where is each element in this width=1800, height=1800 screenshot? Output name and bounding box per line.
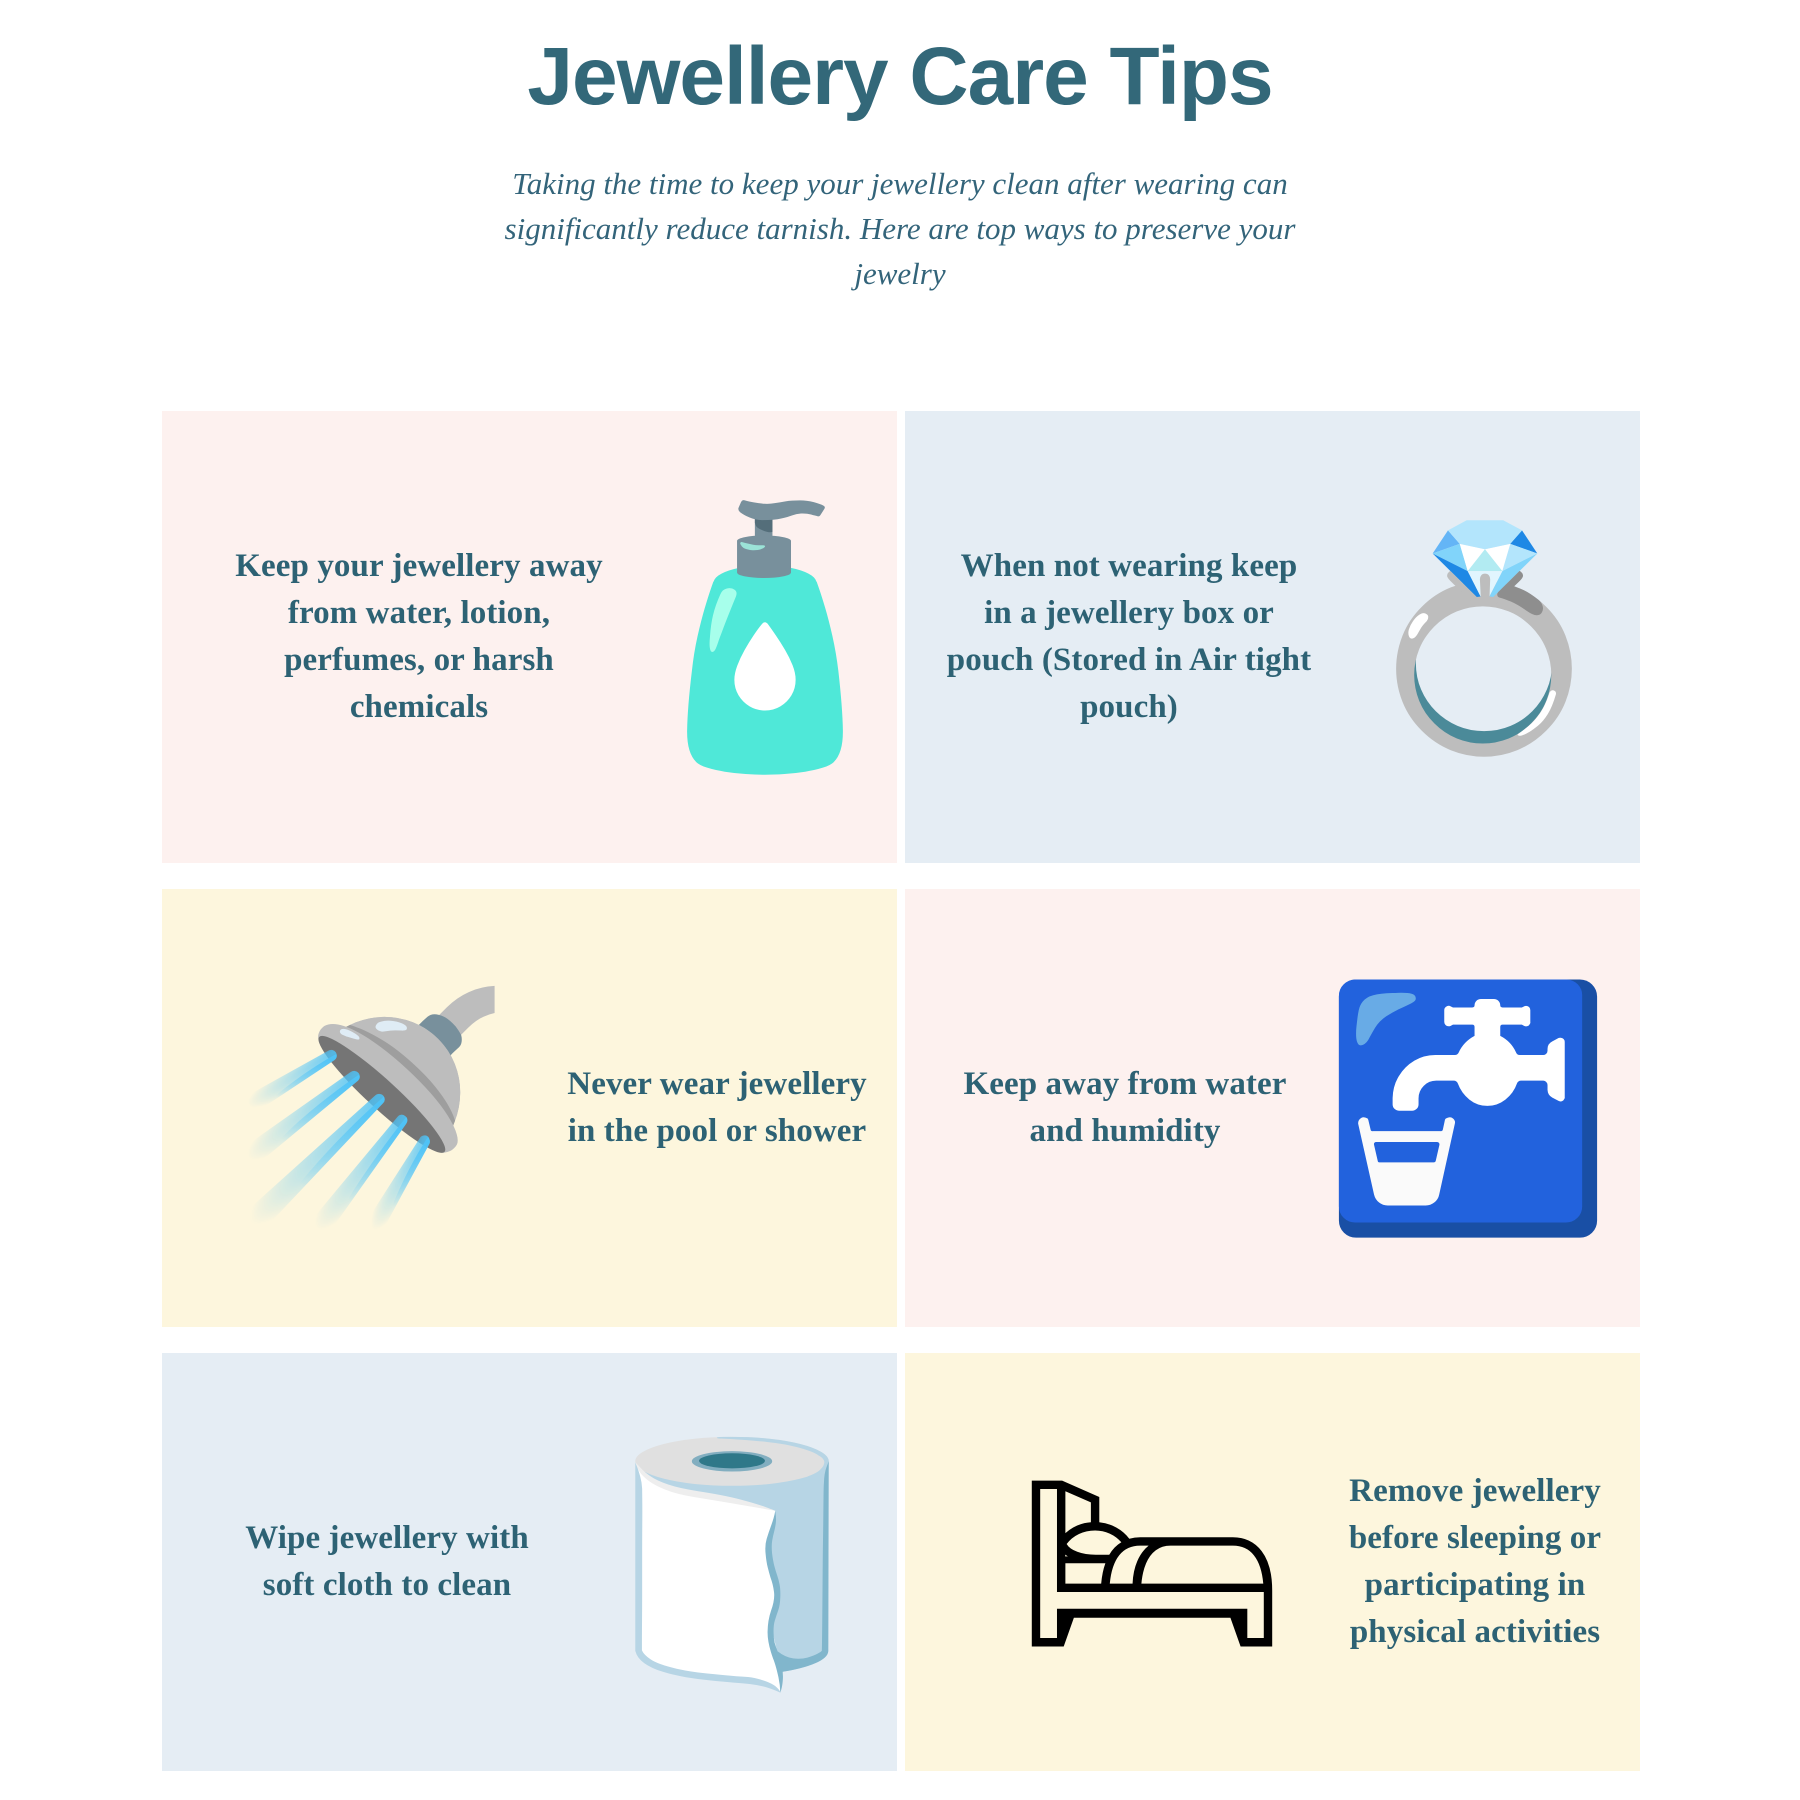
tip-card-text: Remove jewellery before sleeping or part… xyxy=(1310,1468,1640,1655)
tip-card-avoid-water-humidity: Keep away from water and humidity 🚰 xyxy=(905,889,1640,1327)
cloth-handkerchief-icon: 🧻 xyxy=(586,1445,879,1680)
perfume-bottle-icon: 🧴 xyxy=(609,512,897,762)
tip-card-illustration: 💍 xyxy=(1349,530,1619,745)
tip-card-illustration: 🚿 xyxy=(221,996,521,1221)
tip-card-no-pool-or-shower: Never wear jewellery in the pool or show… xyxy=(162,889,897,1327)
faucet-drip-icon: 🚰 xyxy=(1322,991,1615,1226)
infographic-page: Jewellery Care Tips Taking the time to k… xyxy=(0,0,1800,1800)
header: Jewellery Care Tips Taking the time to k… xyxy=(0,0,1800,297)
tip-card-store-in-box: When not wearing keep in a jewellery box… xyxy=(905,411,1640,863)
tip-card-avoid-chemicals: Keep your jewellery away from water, lot… xyxy=(162,411,897,863)
tip-card-illustration: 🛏 xyxy=(1002,1455,1302,1670)
tip-card-text: When not wearing keep in a jewellery box… xyxy=(929,543,1329,730)
tips-grid: Keep your jewellery away from water, lot… xyxy=(162,411,1640,1771)
page-title: Jewellery Care Tips xyxy=(0,30,1800,124)
tip-card-illustration: 🧴 xyxy=(640,512,890,762)
tip-card-wipe-with-cloth: Wipe jewellery with soft cloth to clean … xyxy=(162,1353,897,1771)
tip-card-remove-before-sleeping: Remove jewellery before sleeping or part… xyxy=(905,1353,1640,1771)
ring-box-icon: 💍 xyxy=(1350,530,1618,745)
tip-card-illustration: 🚰 xyxy=(1323,991,1613,1226)
tip-card-text: Wipe jewellery with soft cloth to clean xyxy=(202,1515,572,1609)
page-subtitle: Taking the time to keep your jewellery c… xyxy=(500,162,1300,297)
tip-card-text: Keep away from water and humidity xyxy=(945,1061,1305,1155)
bed-sleeping-icon: 🛏 xyxy=(1016,1455,1289,1670)
tip-card-illustration: 🧻 xyxy=(592,1445,872,1680)
shower-head-icon: 🚿 xyxy=(231,996,511,1221)
tip-card-text: Keep your jewellery away from water, lot… xyxy=(204,543,634,730)
tip-card-text: Never wear jewellery in the pool or show… xyxy=(537,1061,897,1155)
